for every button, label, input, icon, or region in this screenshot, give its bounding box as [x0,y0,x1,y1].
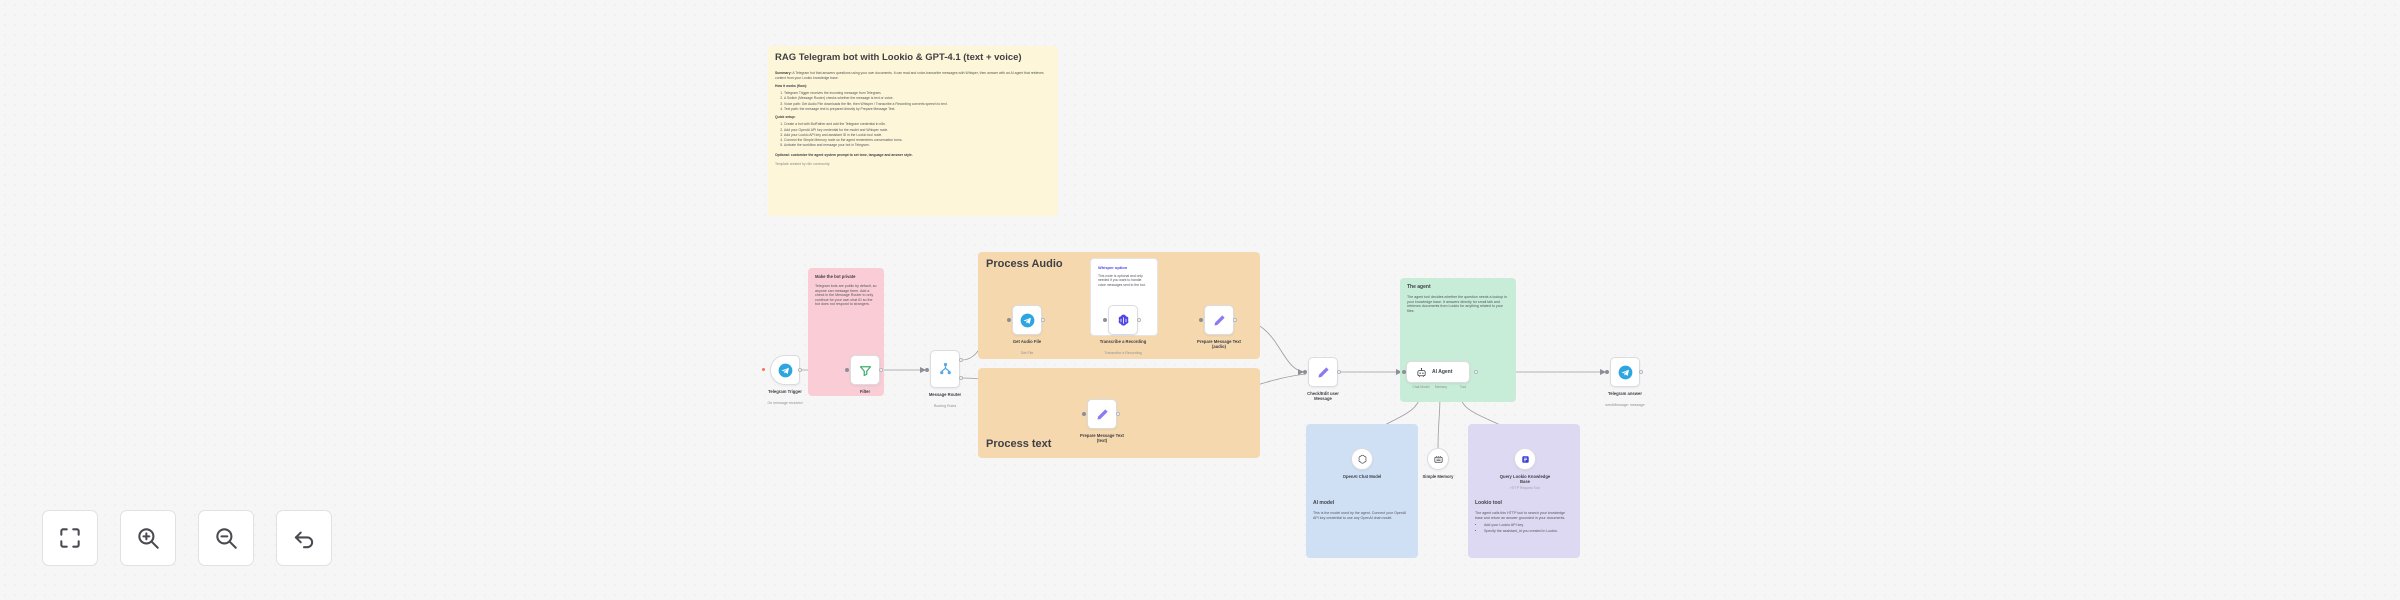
canvas-zoom-toolbar[interactable] [42,510,332,566]
fit-to-view-button[interactable] [42,510,98,566]
node-prepare-message-text-text[interactable]: Prepare Message Text (text) [1087,399,1117,429]
port-out[interactable] [879,368,883,372]
reset-zoom-icon [291,525,317,551]
subnode-simple-memory[interactable]: Simple Memory [1427,448,1449,470]
port-in[interactable] [1303,370,1307,374]
subnode-openai-chat-model-label: OpenAI Chat Model [1322,474,1402,479]
list-item: Voice path: Get Audio File downloads the… [784,102,1051,106]
list-item: Add your OpenAI API key credential for t… [784,128,1051,132]
zoom-in-button[interactable] [120,510,176,566]
port-in[interactable] [1402,370,1406,374]
port-out[interactable] [1474,370,1478,374]
http-icon [1520,454,1531,465]
robot-icon [1416,367,1427,378]
subnode-openai-chat-model[interactable]: OpenAI Chat Model [1351,448,1373,470]
subnode-query-lookio-knowledge-base-sub: HTTP Request Tool [1483,486,1567,490]
list-item: Specify the assistant_id you created in … [1484,529,1573,533]
group-process-audio-label: Process Audio [986,258,1063,272]
port-in[interactable] [1103,318,1107,322]
node-filter[interactable]: Filter [850,355,880,385]
sticky-intro-credit: Template created by n8n community. [775,162,1051,166]
sticky-model-title: AI model [1313,500,1411,506]
agent-port-tool: Tool [1443,385,1483,389]
sticky-intro-setup-heading: How it works (flow): [775,84,807,88]
edit-icon [1095,407,1110,422]
node-get-audio-file[interactable]: Get Audio File Get File [1012,305,1042,335]
sticky-model-body: This is the model used by the agent. Con… [1313,511,1411,520]
switch-icon [938,362,953,377]
node-ai-agent-label: AI Agent [1432,369,1452,375]
list-item: Connect the Simple Memory node so the ag… [784,138,1051,142]
sticky-agent-body: The agent tool decides whether the quest… [1407,295,1509,313]
telegram-icon [1618,365,1633,380]
edit-icon [1316,365,1331,380]
port-in[interactable] [1199,318,1203,322]
subnode-query-lookio-knowledge-base-label: Query Lookio Knowledge Base [1485,474,1565,485]
list-item: Text path: the message text is prepared … [784,107,1051,111]
fit-to-view-icon [57,525,83,551]
port-out[interactable] [1639,370,1643,374]
openai-icon [1116,313,1131,328]
port-out[interactable] [1116,412,1120,416]
port-out[interactable] [1041,318,1045,322]
node-ai-agent[interactable]: AI Agent [1406,361,1470,383]
list-item: A Switch (Message Router) checks whether… [784,96,1051,100]
port-in[interactable] [925,368,929,372]
node-telegram-trigger-label: Telegram Trigger [746,389,824,394]
openai-icon [1357,454,1368,465]
sticky-tool-body-text: The agent calls this HTTP tool to search… [1475,511,1573,520]
node-transcribe-recording-sub: Transcribe a Recording [1082,351,1164,355]
sticky-note-ai-model[interactable]: AI model This is the model used by the a… [1306,424,1418,558]
sticky-tool-title: Lookio tool [1475,500,1573,506]
node-telegram-answer[interactable]: Telegram answer sendMessage: message [1610,357,1640,387]
workflow-canvas[interactable]: RAG Telegram bot with Lookio & GPT-4.1 (… [0,0,2400,600]
node-filter-label: Filter [826,389,904,394]
list-item: Activate the workflow and message your b… [784,143,1051,147]
sticky-private-body: Telegram bots are public by default, so … [815,284,877,306]
trigger-bolt-icon [762,368,765,371]
port-out-audio[interactable] [959,358,963,362]
subnode-simple-memory-label: Simple Memory [1398,474,1478,479]
node-telegram-answer-label: Telegram answer [1586,391,1664,396]
sticky-intro-title: RAG Telegram bot with Lookio & GPT-4.1 (… [775,52,1051,64]
node-get-audio-file-sub: Get File [986,351,1068,355]
node-check-edit-user-message-label: Check/Edit user Message [1284,391,1362,402]
reset-zoom-button[interactable] [276,510,332,566]
port-out[interactable] [1137,318,1141,322]
port-out[interactable] [1337,370,1341,374]
edit-icon [1212,313,1227,328]
node-telegram-trigger-sub: On message received [744,401,826,405]
node-telegram-answer-sub: sendMessage: message [1584,403,1666,407]
telegram-icon [1020,313,1035,328]
node-message-router[interactable]: Message Router Routing Rules [930,350,960,388]
zoom-out-button[interactable] [198,510,254,566]
port-in[interactable] [1082,412,1086,416]
list-item: Add your Lookio API key and assistant ID… [784,133,1051,137]
port-out-text[interactable] [959,376,963,380]
subnode-query-lookio-knowledge-base[interactable]: Query Lookio Knowledge Base HTTP Request… [1514,448,1536,470]
memory-icon [1433,454,1444,465]
sticky-note-intro[interactable]: RAG Telegram bot with Lookio & GPT-4.1 (… [768,46,1058,216]
telegram-icon [778,363,793,378]
node-telegram-trigger[interactable]: Telegram Trigger On message received [770,355,800,385]
node-prepare-message-text-audio[interactable]: Prepare Message Text (audio) [1204,305,1234,335]
list-item: Telegram Trigger receives the incoming m… [784,91,1051,95]
node-prepare-message-text-audio-label: Prepare Message Text (audio) [1180,339,1258,350]
sticky-intro-summary: A Telegram bot that answers questions us… [775,71,1044,79]
group-process-text-label: Process text [986,438,1051,452]
sticky-intro-footer: Optional: customize the agent system pro… [775,153,913,157]
node-transcribe-recording-label: Transcribe a Recording [1084,339,1162,344]
port-out[interactable] [798,368,802,372]
sticky-whisper-body: This node is optional and only needed if… [1098,274,1150,287]
list-item: Create a bot with BotFather and add the … [784,122,1051,126]
zoom-out-icon [213,525,239,551]
sticky-whisper-title: Whisper option [1098,265,1150,270]
port-in[interactable] [1007,318,1011,322]
sticky-agent-title: The agent [1407,284,1509,290]
node-message-router-label: Message Router [906,392,984,397]
sticky-note-agent[interactable]: The agent The agent tool decides whether… [1400,278,1516,402]
node-get-audio-file-label: Get Audio File [988,339,1066,344]
port-in[interactable] [1605,370,1609,374]
list-item: Add your Lookio API key. [1484,523,1573,527]
port-in[interactable] [845,368,849,372]
sticky-note-lookio-tool[interactable]: Lookio tool The agent calls this HTTP to… [1468,424,1580,558]
zoom-in-icon [135,525,161,551]
node-check-edit-user-message[interactable]: Check/Edit user Message [1308,357,1338,387]
sticky-intro-setup-heading2: Quick setup: [775,115,796,119]
sticky-intro-body: Summary: A Telegram bot that answers que… [775,71,1051,166]
filter-icon [858,363,873,378]
node-prepare-message-text-text-label: Prepare Message Text (text) [1063,433,1141,444]
sticky-private-title: Make the bot private [815,274,877,279]
sticky-tool-body: The agent calls this HTTP tool to search… [1475,511,1573,533]
port-out[interactable] [1233,318,1237,322]
node-message-router-sub: Routing Rules [904,404,986,408]
node-transcribe-recording[interactable]: Transcribe a Recording Transcribe a Reco… [1108,305,1138,335]
